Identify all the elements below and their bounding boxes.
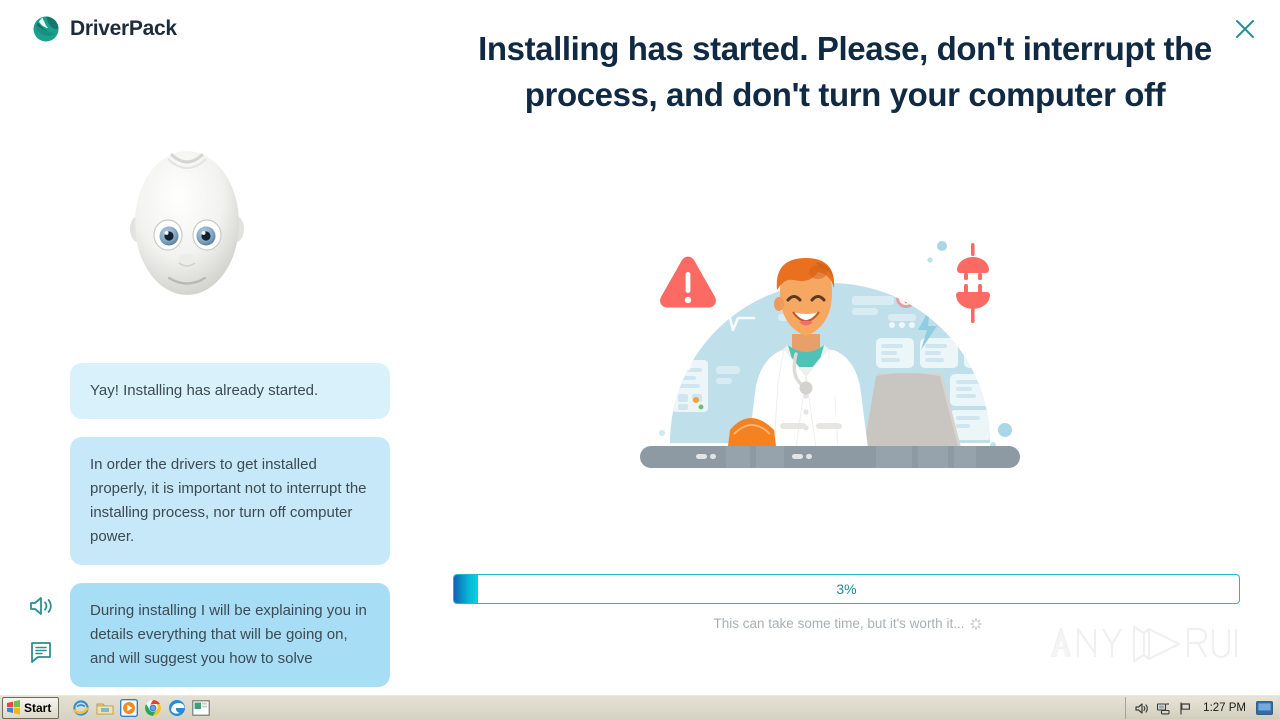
clock[interactable]: 1:27 PM bbox=[1200, 702, 1249, 714]
progress-percent-label: 3% bbox=[454, 575, 1239, 603]
google-chrome-icon[interactable] bbox=[143, 698, 162, 717]
chat-message: In order the drivers to get installed pr… bbox=[70, 437, 390, 565]
progress-bar[interactable]: 3% bbox=[453, 574, 1240, 604]
chat-bubble-icon[interactable] bbox=[28, 640, 54, 664]
start-button[interactable]: Start bbox=[2, 697, 59, 719]
windows-flag-icon bbox=[6, 700, 21, 715]
page-title: Installing has started. Please, don't in… bbox=[430, 26, 1260, 118]
progress-hint-text: This can take some time, but it's worth … bbox=[714, 616, 965, 631]
driverpack-window-icon[interactable] bbox=[191, 698, 210, 717]
warning-triangle-icon bbox=[660, 257, 716, 308]
flag-tray-icon[interactable] bbox=[1178, 701, 1193, 716]
chat-message: Yay! Installing has already started. bbox=[70, 363, 390, 419]
media-player-icon[interactable] bbox=[119, 698, 138, 717]
chat-message-list: Yay! Installing has already started. In … bbox=[70, 363, 390, 694]
file-explorer-icon[interactable] bbox=[95, 698, 114, 717]
network-tray-icon[interactable] bbox=[1156, 701, 1171, 716]
progress-hint: This can take some time, but it's worth … bbox=[453, 616, 1243, 631]
main-panel: Installing has started. Please, don't in… bbox=[410, 0, 1280, 694]
screen: DriverPack bbox=[0, 0, 1280, 720]
progress-area: 3% This can take some time, but it's wor… bbox=[453, 574, 1243, 631]
chat-message: During installing I will be explaining y… bbox=[70, 583, 390, 687]
system-tray: 1:27 PM bbox=[1125, 697, 1278, 719]
internet-explorer-icon[interactable] bbox=[71, 698, 90, 717]
assistant-panel: Yay! Installing has already started. In … bbox=[0, 0, 410, 694]
quick-launch-bar bbox=[71, 698, 210, 717]
assistant-tool-bar bbox=[28, 594, 54, 664]
technician-with-laptop-illustration bbox=[630, 218, 1030, 468]
volume-tray-icon[interactable] bbox=[1134, 701, 1149, 716]
robot-face-avatar bbox=[128, 143, 246, 301]
start-button-label: Start bbox=[24, 701, 51, 715]
desktop-tray-icon[interactable] bbox=[1256, 701, 1273, 715]
illustration bbox=[630, 218, 1030, 468]
speaker-volume-icon[interactable] bbox=[28, 594, 54, 618]
power-plug-icon bbox=[956, 243, 990, 323]
microsoft-edge-icon[interactable] bbox=[167, 698, 186, 717]
loading-spinner-icon bbox=[970, 618, 982, 630]
driverpack-window: DriverPack bbox=[0, 0, 1280, 694]
taskbar: Start bbox=[0, 694, 1280, 720]
